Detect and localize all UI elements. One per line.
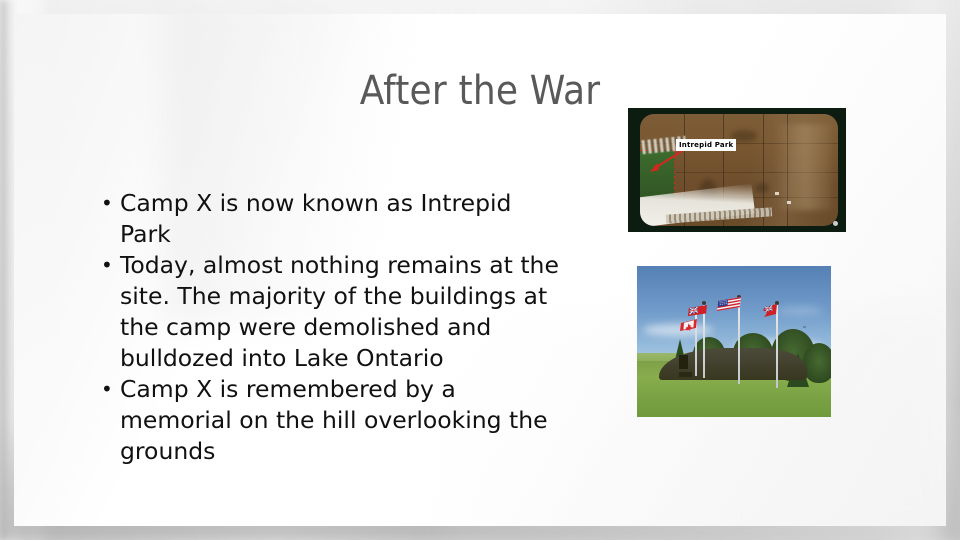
bullet-item: • Camp X is remembered by a memorial on … [90, 374, 560, 467]
bullet-item: • Camp X is now known as Intrepid Park [90, 188, 560, 250]
memorial-photo-camp-x [637, 266, 831, 417]
united-states-flag [710, 296, 742, 316]
slide-body-text: • Camp X is now known as Intrepid Park •… [90, 188, 560, 467]
bullet-marker-icon: • [101, 250, 113, 281]
memorial-plaque [679, 355, 688, 369]
bullet-marker-icon: • [101, 374, 113, 405]
canadian-flag [675, 318, 697, 334]
memorial-plaque [679, 372, 692, 377]
presentation-slide: After the War • Camp X is now known as I… [0, 0, 960, 540]
aerial-photo-label: Intrepid Park [676, 139, 736, 151]
bird-speck [803, 326, 806, 328]
bullet-text: Today, almost nothing remains at the sit… [120, 250, 560, 374]
bullet-marker-icon: • [101, 188, 113, 219]
bullet-text: Camp X is remembered by a memorial on th… [120, 374, 560, 467]
ontario-flag [681, 304, 707, 320]
aerial-photo-intrepid-park: Intrepid Park [628, 108, 846, 232]
british-red-ensign-flag [753, 303, 779, 321]
bullet-item: • Today, almost nothing remains at the s… [90, 250, 560, 374]
aerial-light-patch [774, 124, 832, 210]
bullet-text: Camp X is now known as Intrepid Park [120, 188, 560, 250]
aerial-corner-marker [833, 221, 838, 226]
